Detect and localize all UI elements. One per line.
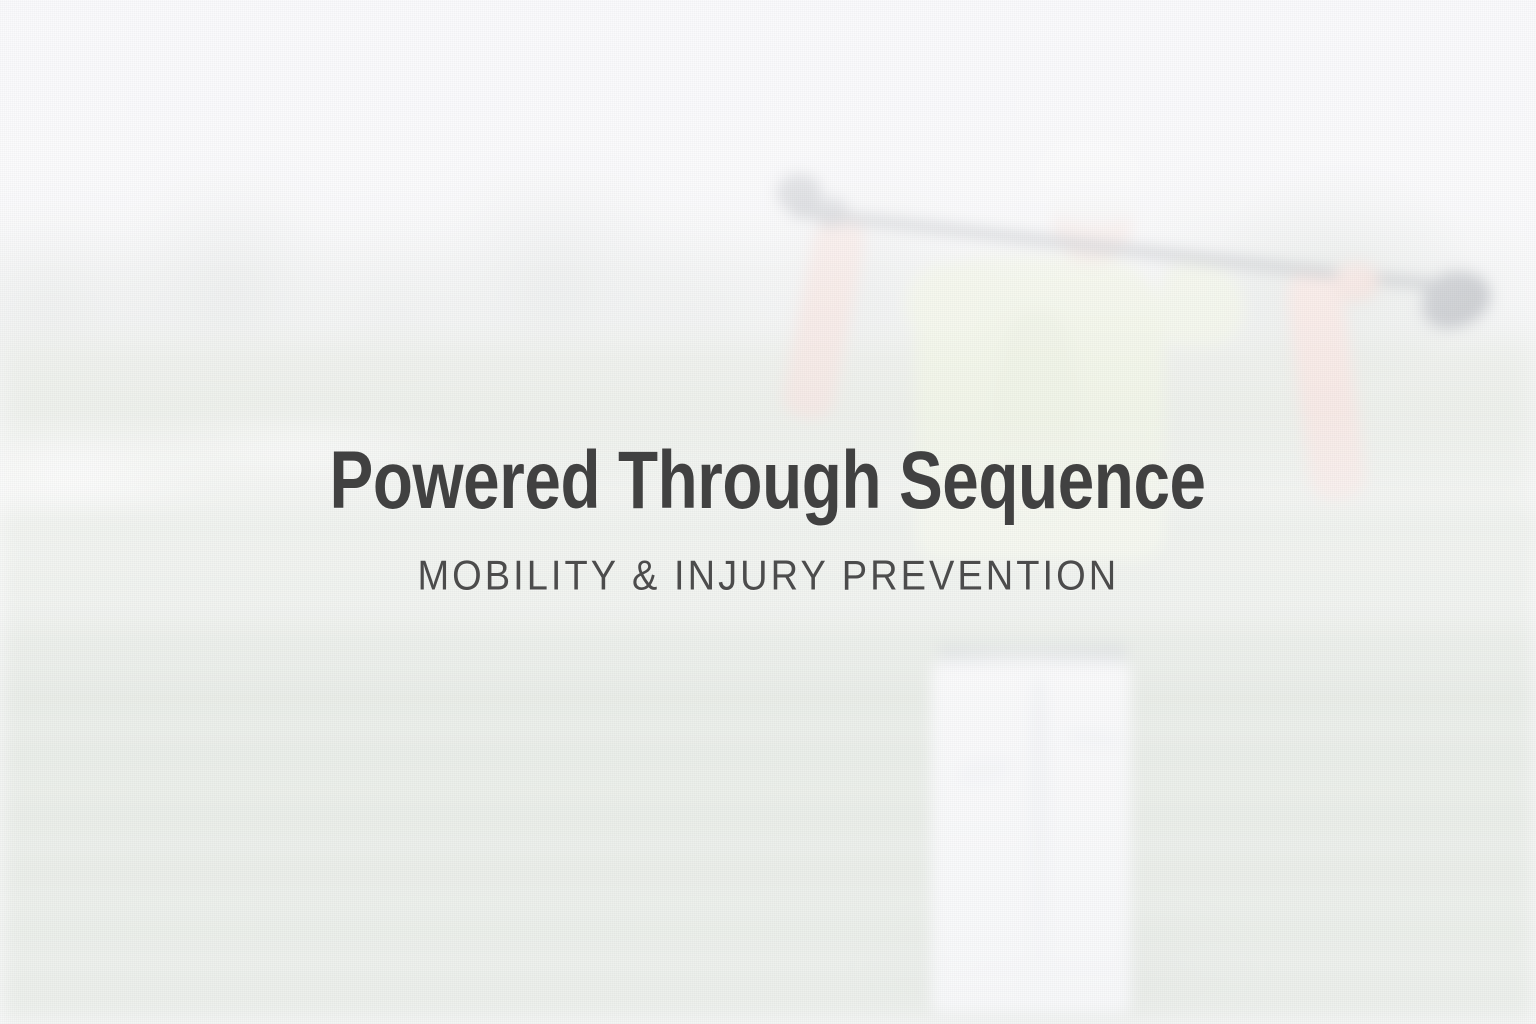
page-subtitle: MOBILITY & INJURY PREVENTION (417, 555, 1119, 597)
title-block: Powered Through Sequence MOBILITY & INJU… (0, 0, 1536, 1024)
page-title: Powered Through Sequence (330, 440, 1206, 522)
title-slide: Powered Through Sequence MOBILITY & INJU… (0, 0, 1536, 1024)
